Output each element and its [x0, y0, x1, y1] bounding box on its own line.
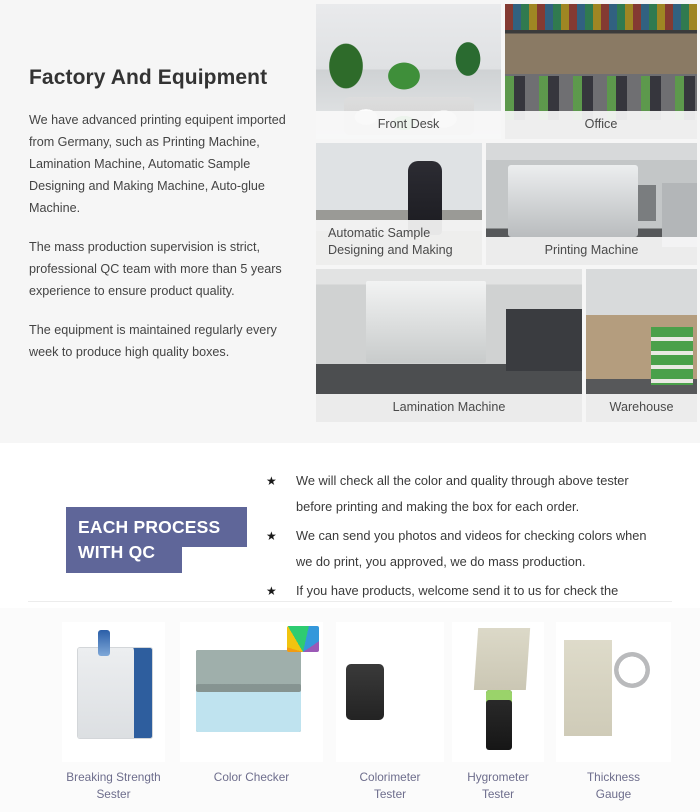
star-icon: ★ [266, 468, 277, 494]
qc-badge-label: EACH PROCESS WITH QC [78, 515, 253, 565]
colorimeter-photo [336, 622, 444, 762]
gallery-item-warehouse[interactable]: Warehouse [586, 269, 697, 422]
tester-caption-line-1: Hygrometer [467, 770, 529, 784]
factory-gallery: Front Desk Office Automatic Sample Desig… [316, 4, 697, 422]
qc-list-item: ★ We will check all the color and qualit… [264, 468, 664, 520]
gallery-caption-front-desk: Front Desk [316, 111, 501, 139]
tester-caption-line-1: Colorimeter [360, 770, 421, 784]
tester-caption-thickness-gauge: Thickness Gauge [556, 769, 671, 803]
tester-item-breaking-strength[interactable]: Breaking Strength Sester [62, 622, 165, 803]
tester-caption-line-1: Thickness [587, 770, 640, 784]
gallery-item-front-desk[interactable]: Front Desk [316, 4, 501, 139]
qc-badge-line-1: EACH PROCESS [78, 517, 220, 537]
tester-caption-line-1: Color Checker [214, 770, 289, 784]
qc-list-item: ★ We can send you photos and videos for … [264, 523, 664, 575]
tester-item-color-checker[interactable]: Color Checker [180, 622, 323, 786]
star-icon: ★ [266, 523, 277, 549]
tester-caption-line-2: Sester [96, 787, 130, 801]
factory-paragraph-3: The equipment is maintained regularly ev… [29, 319, 291, 363]
tester-caption-breaking-strength: Breaking Strength Sester [62, 769, 165, 803]
qc-item-text-2: We can send you photos and videos for ch… [296, 528, 646, 569]
gallery-caption-lamination-machine: Lamination Machine [316, 394, 582, 422]
qc-badge-line-2: WITH QC [78, 542, 155, 562]
factory-text-block: Factory And Equipment We have advanced p… [29, 66, 291, 380]
factory-paragraph-1: We have advanced printing equipent impor… [29, 109, 291, 219]
tester-caption-line-2: Gauge [596, 787, 631, 801]
gallery-caption-office: Office [505, 111, 697, 139]
tester-caption-colorimeter: Colorimeter Tester [336, 769, 444, 803]
section-divider [28, 601, 672, 602]
tester-item-colorimeter[interactable]: Colorimeter Tester [336, 622, 444, 803]
tester-caption-color-checker: Color Checker [180, 769, 323, 786]
tester-caption-line-1: Breaking Strength [66, 770, 160, 784]
thickness-gauge-photo [556, 622, 671, 762]
gallery-caption-warehouse: Warehouse [586, 394, 697, 422]
qc-badge: EACH PROCESS WITH QC [66, 507, 247, 573]
gallery-item-printing-machine[interactable]: Printing Machine [486, 143, 697, 265]
hygrometer-photo [452, 622, 544, 762]
factory-section: Factory And Equipment We have advanced p… [0, 0, 700, 443]
color-checker-photo [180, 622, 323, 762]
gallery-item-automatic-sample[interactable]: Automatic Sample Designing and Making [316, 143, 482, 265]
gallery-caption-automatic-sample: Automatic Sample Designing and Making [316, 220, 482, 265]
tester-caption-line-2: Tester [374, 787, 406, 801]
qc-item-text-1: We will check all the color and quality … [296, 473, 629, 514]
gallery-item-lamination-machine[interactable]: Lamination Machine [316, 269, 582, 422]
gallery-item-office[interactable]: Office [505, 4, 697, 139]
page-title: Factory And Equipment [29, 66, 291, 90]
page-root: Factory And Equipment We have advanced p… [0, 0, 700, 812]
factory-paragraph-2: The mass production supervision is stric… [29, 236, 291, 302]
tester-item-hygrometer[interactable]: Hygrometer Tester [452, 622, 544, 803]
gallery-caption-printing-machine: Printing Machine [486, 237, 697, 265]
tester-caption-line-2: Tester [482, 787, 514, 801]
breaking-strength-photo [62, 622, 165, 762]
tester-caption-hygrometer: Hygrometer Tester [452, 769, 544, 803]
tester-item-thickness-gauge[interactable]: Thickness Gauge [556, 622, 671, 803]
